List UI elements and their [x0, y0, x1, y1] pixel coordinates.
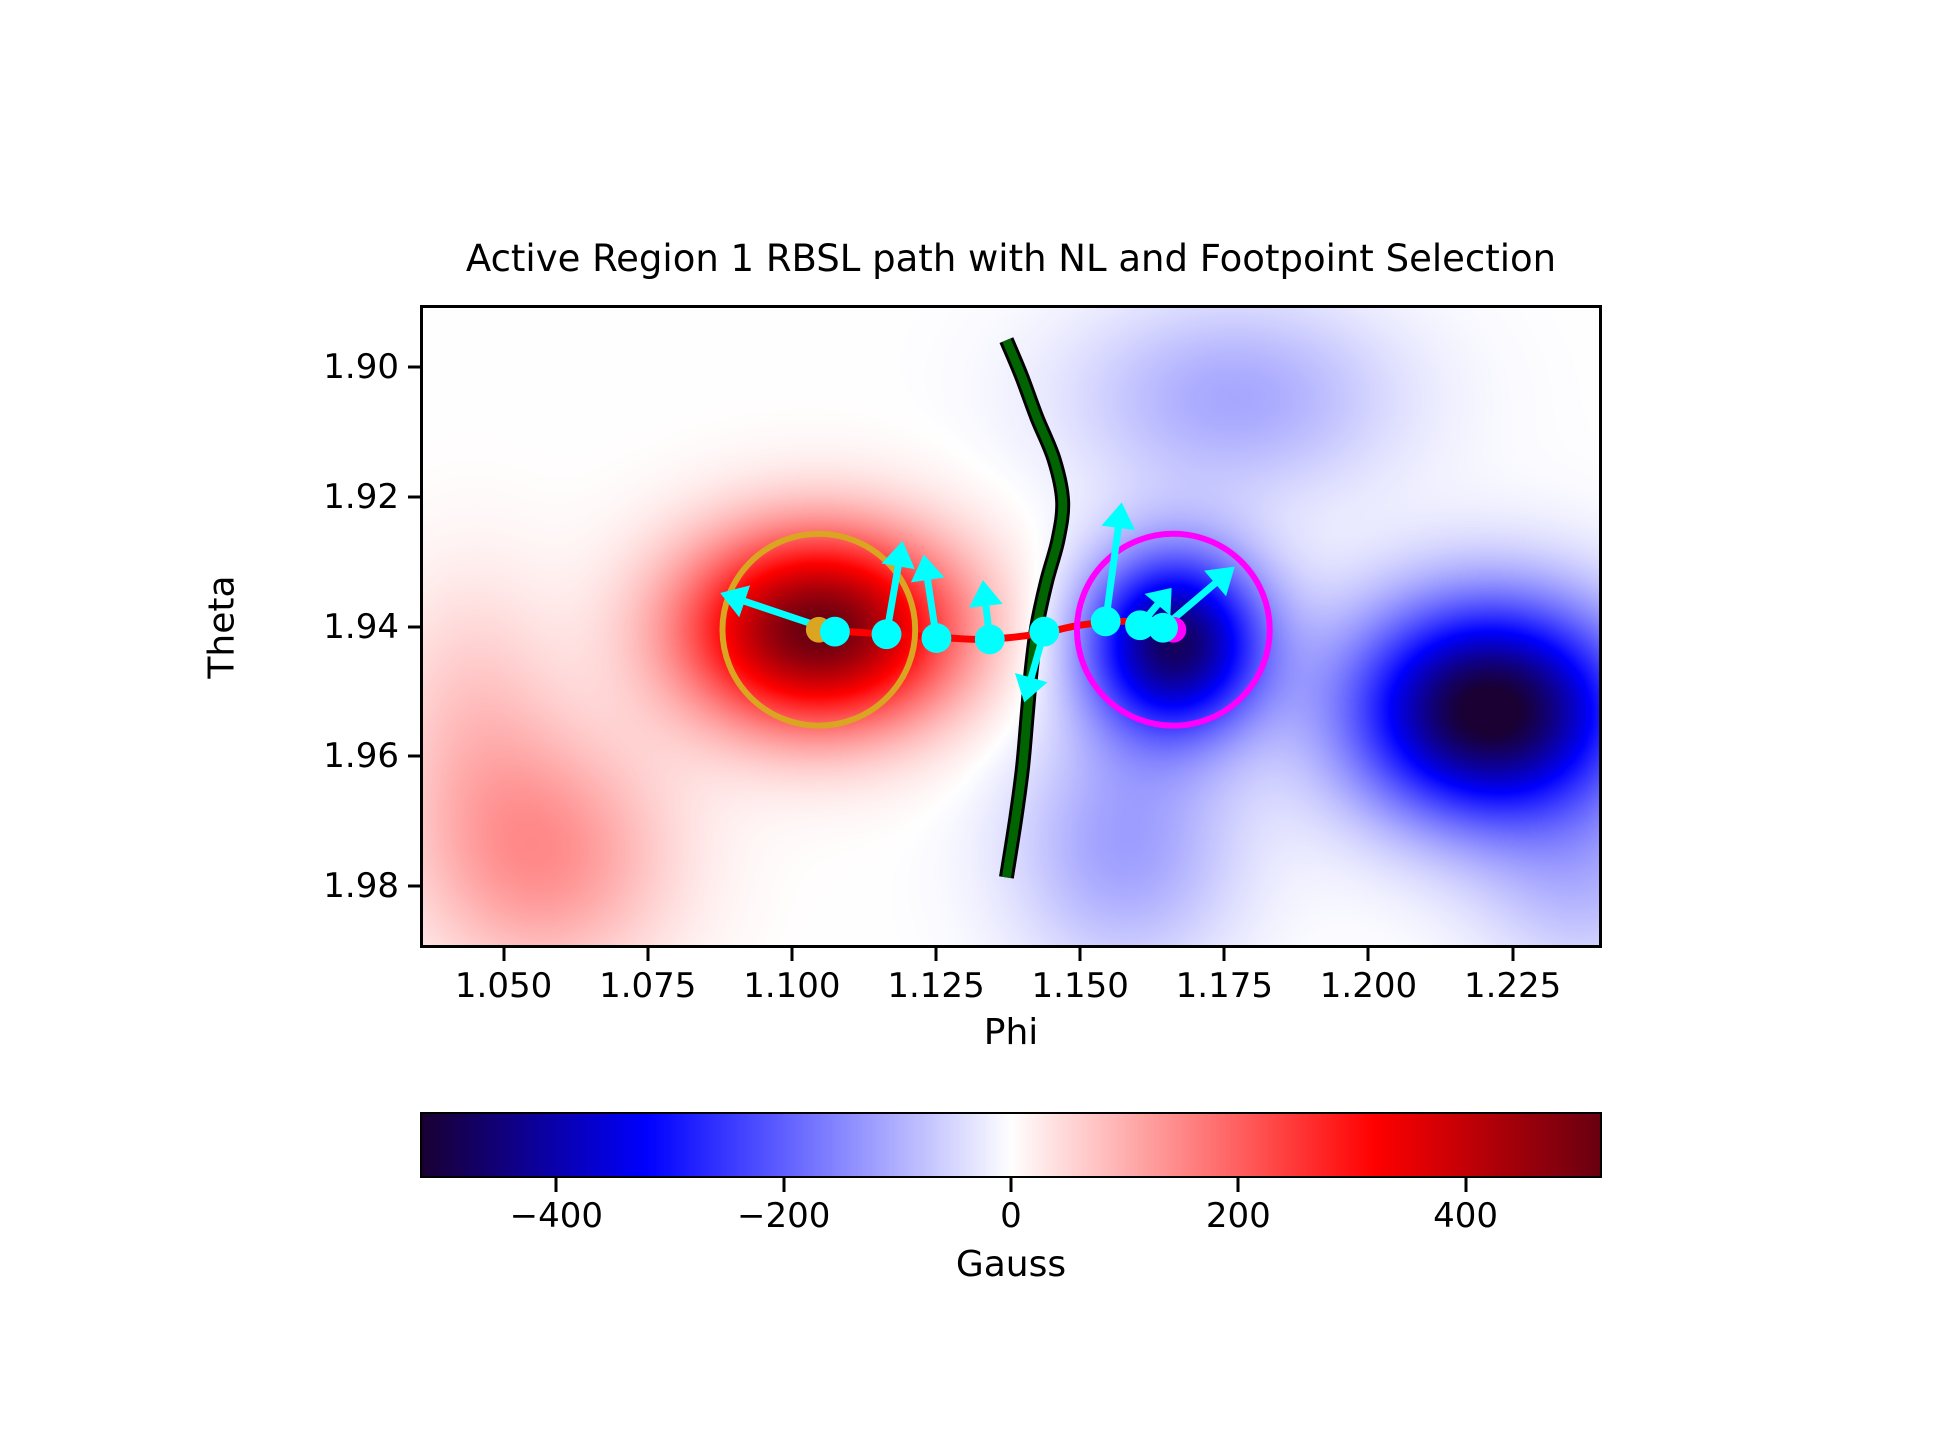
y-tick-label: 1.98	[323, 866, 399, 906]
x-tick-mark	[790, 948, 793, 961]
x-tick-mark	[646, 948, 649, 961]
x-tick-mark	[502, 948, 505, 961]
footpoint-marker[interactable]	[1029, 617, 1059, 647]
y-tick-label: 1.92	[323, 477, 399, 517]
overlay-annotations	[423, 308, 1599, 945]
colorbar-tick-label: 400	[1433, 1196, 1498, 1236]
colorbar-tick-label: 0	[1000, 1196, 1022, 1236]
x-tick-label: 1.200	[1320, 966, 1417, 1006]
vector-5-head	[1102, 502, 1136, 530]
page-title: Active Region 1 RBSL path with NL and Fo…	[420, 240, 1602, 277]
x-tick-mark	[1511, 948, 1514, 961]
colorbar-tick-mark	[1464, 1178, 1467, 1192]
x-tick-mark	[1223, 948, 1226, 961]
y-tick-label: 1.94	[323, 607, 399, 647]
x-tick-label: 1.225	[1464, 966, 1561, 1006]
x-tick-label: 1.050	[455, 966, 552, 1006]
footpoint-marker[interactable]	[1148, 613, 1178, 643]
y-tick-label: 1.96	[323, 736, 399, 776]
colorbar-tick-label: −200	[737, 1196, 830, 1236]
colorbar[interactable]	[420, 1112, 1602, 1178]
footpoint-marker[interactable]	[1091, 606, 1121, 636]
x-tick-mark	[935, 948, 938, 961]
x-tick-mark	[1367, 948, 1370, 961]
neutral-line-group	[1006, 340, 1062, 877]
figure-canvas: Active Region 1 RBSL path with NL and Fo…	[0, 0, 1955, 1440]
footpoint-marker[interactable]	[820, 617, 850, 647]
x-axis-label: Phi	[420, 1012, 1602, 1053]
colorbar-label: Gauss	[420, 1244, 1602, 1285]
footpoint-marker[interactable]	[975, 625, 1005, 655]
vector-2-head	[911, 554, 944, 582]
x-tick-label: 1.125	[887, 966, 984, 1006]
colorbar-tick-mark	[1010, 1178, 1013, 1192]
footpoint-marker[interactable]	[872, 619, 902, 649]
x-tick-mark	[1079, 948, 1082, 961]
x-tick-label: 1.175	[1176, 966, 1273, 1006]
plot-area	[420, 305, 1602, 948]
colorbar-tick-mark	[1237, 1178, 1240, 1192]
colorbar-tick-mark	[782, 1178, 785, 1192]
vector-3-head	[969, 580, 1003, 608]
x-tick-label: 1.150	[1032, 966, 1129, 1006]
colorbar-tick-label: −400	[510, 1196, 603, 1236]
y-axis-label: Theta	[202, 575, 243, 678]
footpoint-marker[interactable]	[921, 623, 951, 653]
colorbar-tick-mark	[555, 1178, 558, 1192]
y-tick-label: 1.90	[323, 347, 399, 387]
colorbar-gradient	[420, 1112, 1602, 1178]
colorbar-tick-label: 200	[1206, 1196, 1271, 1236]
x-tick-label: 1.100	[743, 966, 840, 1006]
footpoints-group	[820, 606, 1178, 654]
x-tick-label: 1.075	[599, 966, 696, 1006]
